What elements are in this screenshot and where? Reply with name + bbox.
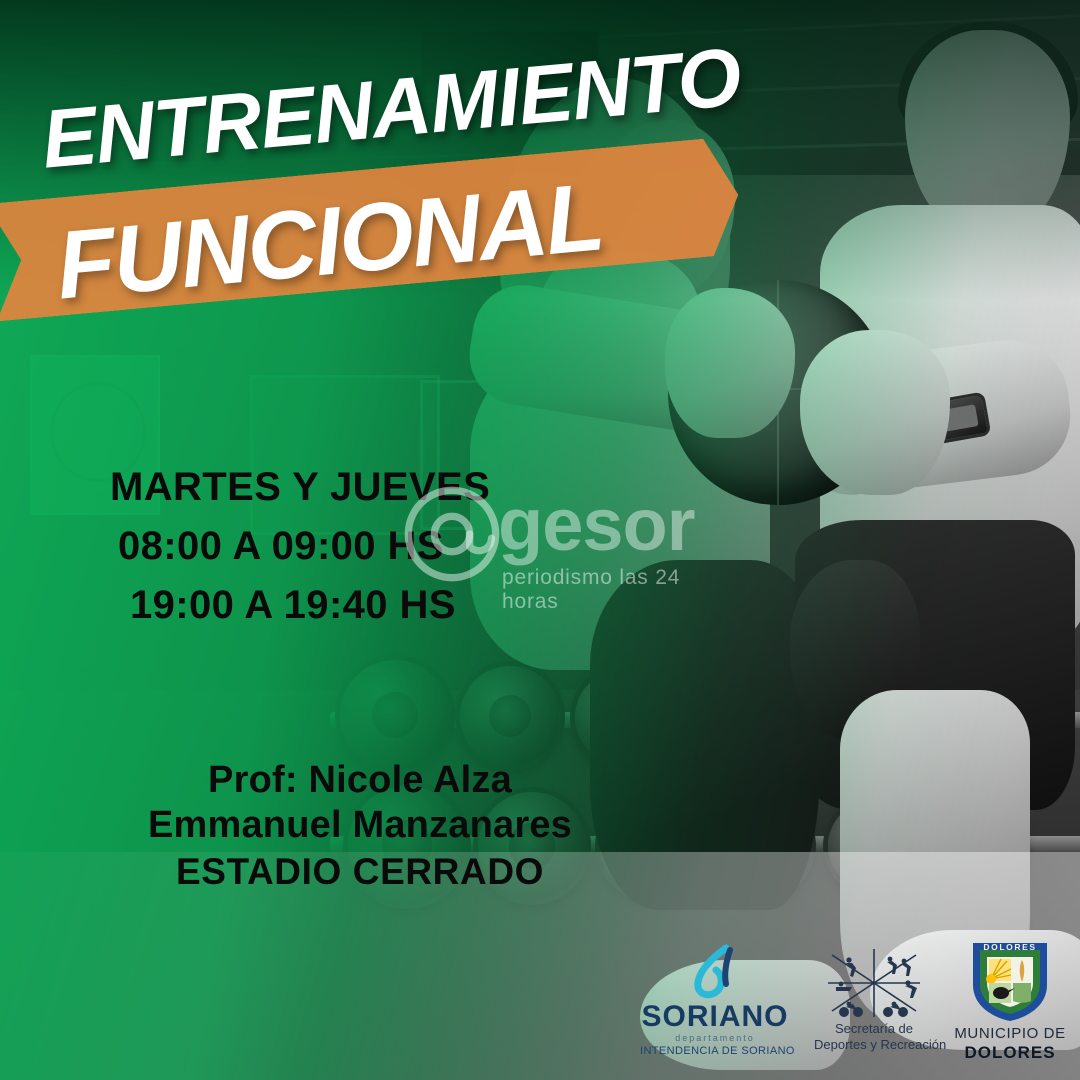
sports-star-icon <box>814 947 934 1021</box>
svg-text:DOLORES: DOLORES <box>983 942 1036 952</box>
headline-bottom: FUNCIONAL <box>52 162 607 321</box>
logo-municipio-dolores: DOLORES MUNICIPIO DE DOLORES <box>940 937 1080 1063</box>
soriano-subtitle: INTENDENCIA DE SORIANO <box>640 1045 790 1057</box>
venue-label: ESTADIO CERRADO <box>70 848 650 896</box>
dolores-line1: MUNICIPIO DE <box>940 1025 1080 1043</box>
soriano-departamento: departamento <box>640 1033 790 1043</box>
soriano-wave-icon <box>640 944 790 1002</box>
staff-professor: Prof: Nicole Alza <box>70 758 650 803</box>
schedule-days: MARTES Y JUEVES <box>110 458 630 517</box>
logo-secretaria-deportes: Secretaría de Deportes y Recreación <box>814 947 934 1054</box>
dolores-line2: DOLORES <box>940 1043 1080 1063</box>
staff-block: Prof: Nicole Alza Emmanuel Manzanares ES… <box>70 758 650 896</box>
schedule-morning: 08:00 A 09:00 HS <box>110 517 630 576</box>
headline-block: ENTRENAMIENTO FUNCIONAL <box>0 86 780 336</box>
logo-soriano: SORIANO departamento INTENDENCIA DE SORI… <box>640 944 790 1057</box>
soriano-name: SORIANO <box>640 1002 790 1032</box>
staff-professor-2: Emmanuel Manzanares <box>70 803 650 848</box>
schedule-evening: 19:00 A 19:40 HS <box>110 576 630 635</box>
dolores-crest-icon: DOLORES <box>940 937 1080 1025</box>
logo-bar: SORIANO departamento INTENDENCIA DE SORI… <box>640 930 1070 1070</box>
secretaria-line1: Secretaría de <box>814 1021 934 1037</box>
poster-flyer: ENTRENAMIENTO FUNCIONAL MARTES Y JUEVES … <box>0 0 1080 1080</box>
schedule-block: MARTES Y JUEVES 08:00 A 09:00 HS 19:00 A… <box>110 458 630 636</box>
secretaria-line2: Deportes y Recreación <box>814 1037 934 1053</box>
